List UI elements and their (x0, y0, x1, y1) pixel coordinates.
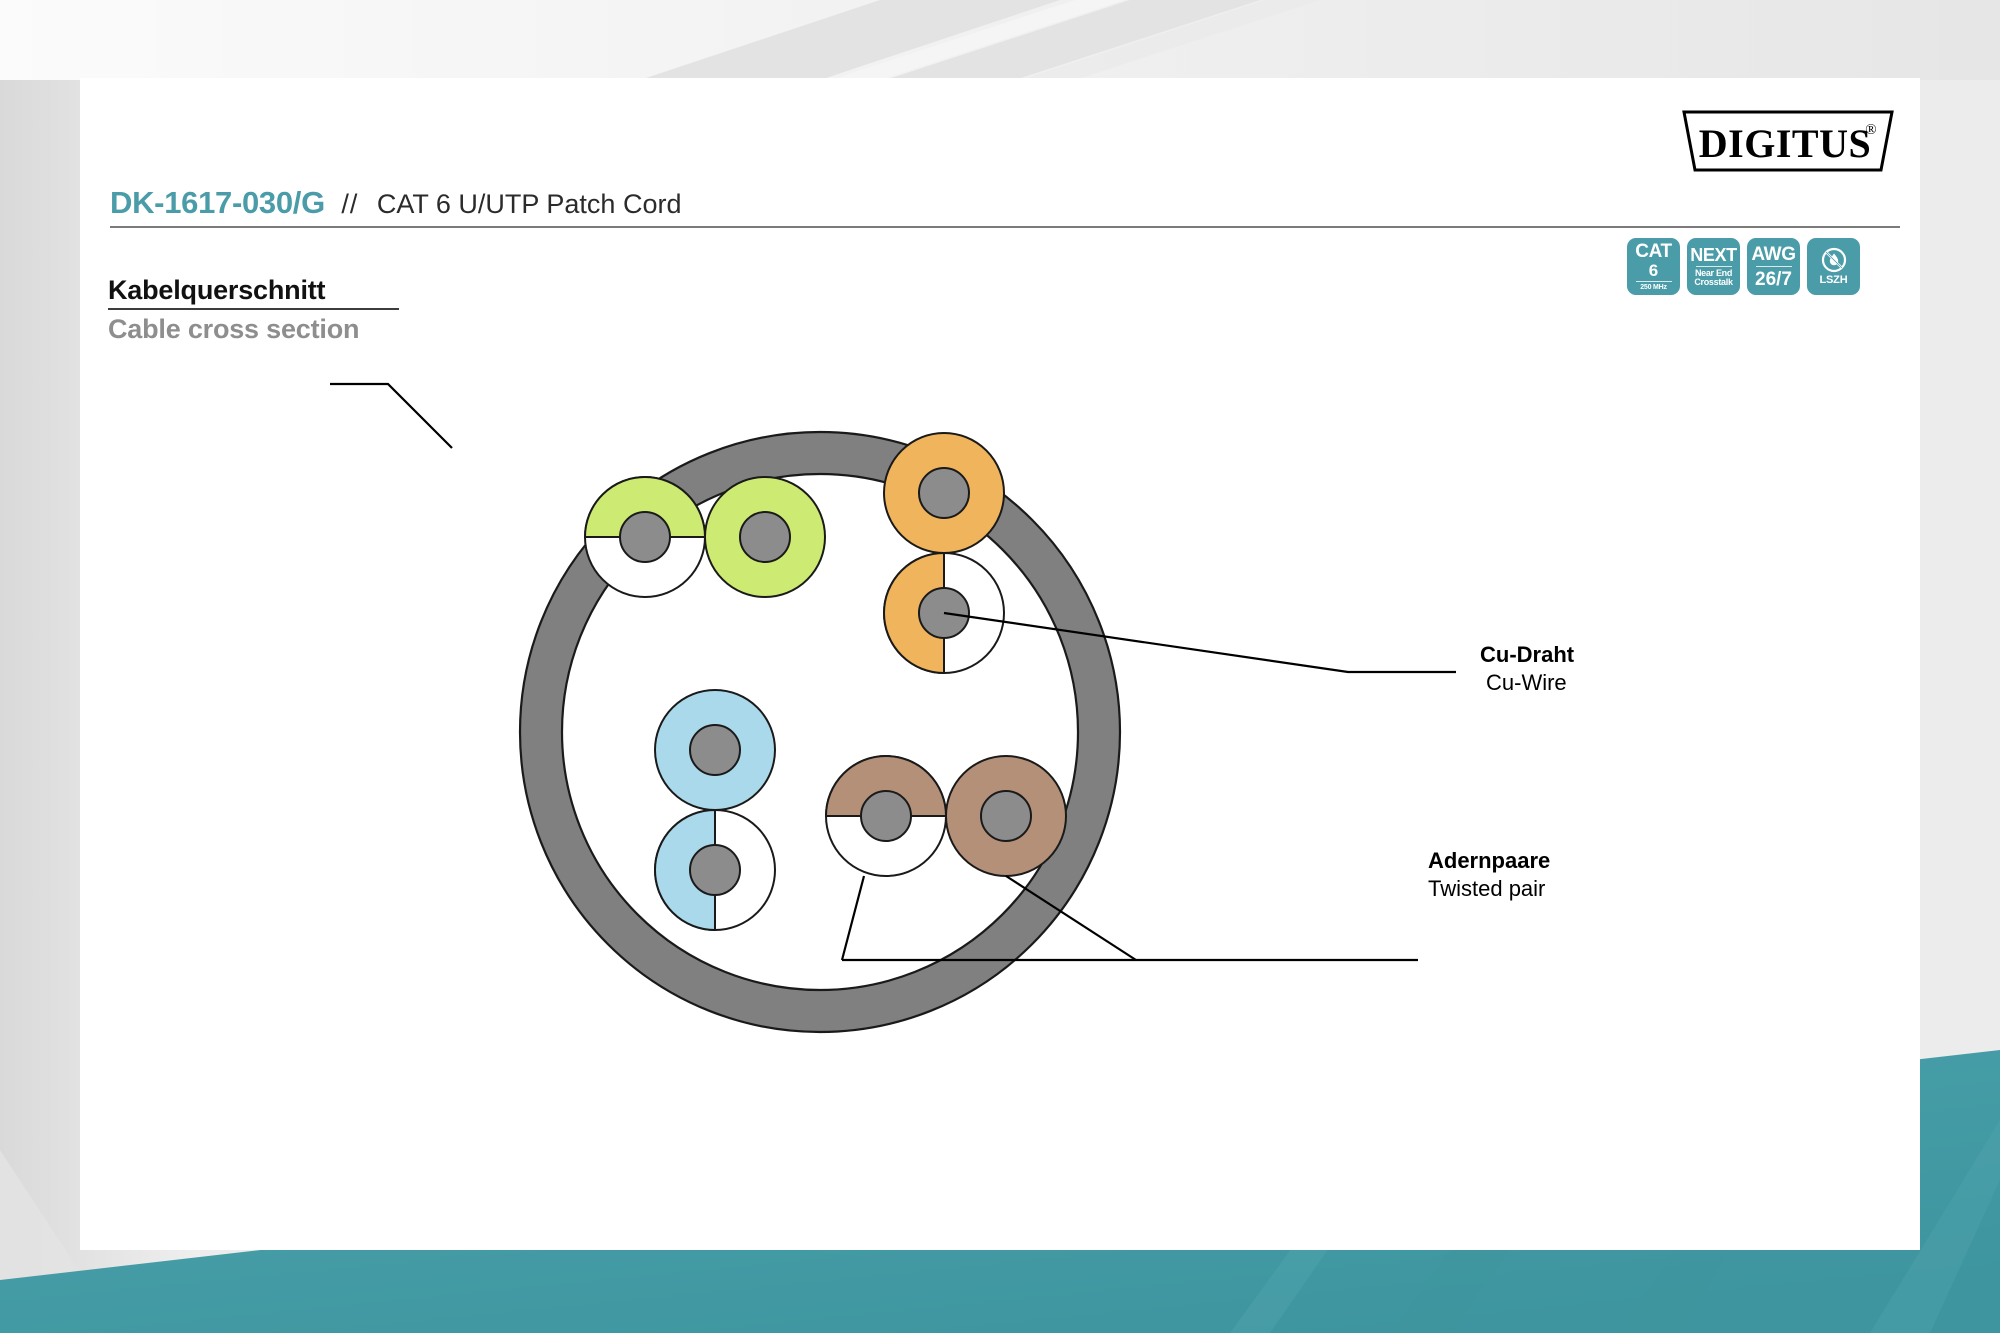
brown-wire-solid (946, 756, 1066, 876)
digitus-logo: DIGITUS ® (1681, 108, 1895, 174)
awg-badge: AWG 26/7 (1747, 238, 1800, 295)
blue-wire-solid (655, 690, 775, 810)
registered-trademark-icon: ® (1865, 122, 1876, 138)
next-badge-rule (1696, 266, 1732, 267)
cu-wire-label-de: Cu-Draht (1480, 642, 1575, 667)
green-wire-solid (705, 477, 825, 597)
lszh-badge-label: LSZH (1820, 275, 1848, 286)
brown-wire-striped (826, 756, 946, 876)
outer-jacket-leader-line (330, 384, 452, 448)
blue-wire-striped (655, 810, 775, 930)
cu-wire-label-en: Cu-Wire (1486, 670, 1567, 695)
next-badge: NEXT Near End Crosstalk (1687, 238, 1740, 295)
callout-outer-jacket: Außenmantel Outer jacket (330, 348, 452, 448)
product-title-row: DK-1617-030/G // CAT 6 U/UTP Patch Cord (110, 185, 1900, 221)
feature-badge-group: CAT 6 250 MHz NEXT Near End Crosstalk AW… (1627, 238, 1860, 295)
cat-badge-main: CAT (1635, 242, 1671, 261)
section-heading: Kabelquerschnitt Cable cross section (108, 275, 399, 344)
cat-badge-rule (1636, 281, 1672, 282)
section-title-underline (108, 308, 399, 310)
title-divider (110, 226, 1900, 228)
cat-badge-sub: 6 (1649, 262, 1658, 279)
next-badge-fine-line2: Crosstalk (1694, 278, 1732, 287)
orange-wire-solid (884, 433, 1004, 553)
cat-badge: CAT 6 250 MHz (1627, 238, 1680, 295)
awg-badge-sub: 26/7 (1755, 270, 1792, 289)
no-flame-icon (1821, 247, 1847, 273)
product-sku: DK-1617-030/G (110, 185, 325, 220)
section-title-de: Kabelquerschnitt (108, 275, 399, 305)
awg-badge-main: AWG (1751, 245, 1795, 264)
twisted-pair-label-en: Twisted pair (1428, 876, 1545, 901)
logo-wordmark: DIGITUS (1699, 121, 1871, 166)
title-separator: // (341, 189, 358, 219)
product-description: CAT 6 U/UTP Patch Cord (377, 189, 682, 219)
awg-badge-rule (1756, 266, 1792, 267)
next-badge-main: NEXT (1690, 246, 1736, 264)
section-title-en: Cable cross section (108, 314, 399, 344)
twisted-pair-label-de: Adernpaare (1428, 848, 1550, 873)
green-wire-striped (585, 477, 705, 597)
lszh-badge: LSZH (1807, 238, 1860, 295)
cat-badge-fine: 250 MHz (1640, 284, 1667, 291)
cable-cross-section-diagram: Außenmantel Outer jacket Cu-Draht Cu-Wir… (330, 300, 1800, 1170)
